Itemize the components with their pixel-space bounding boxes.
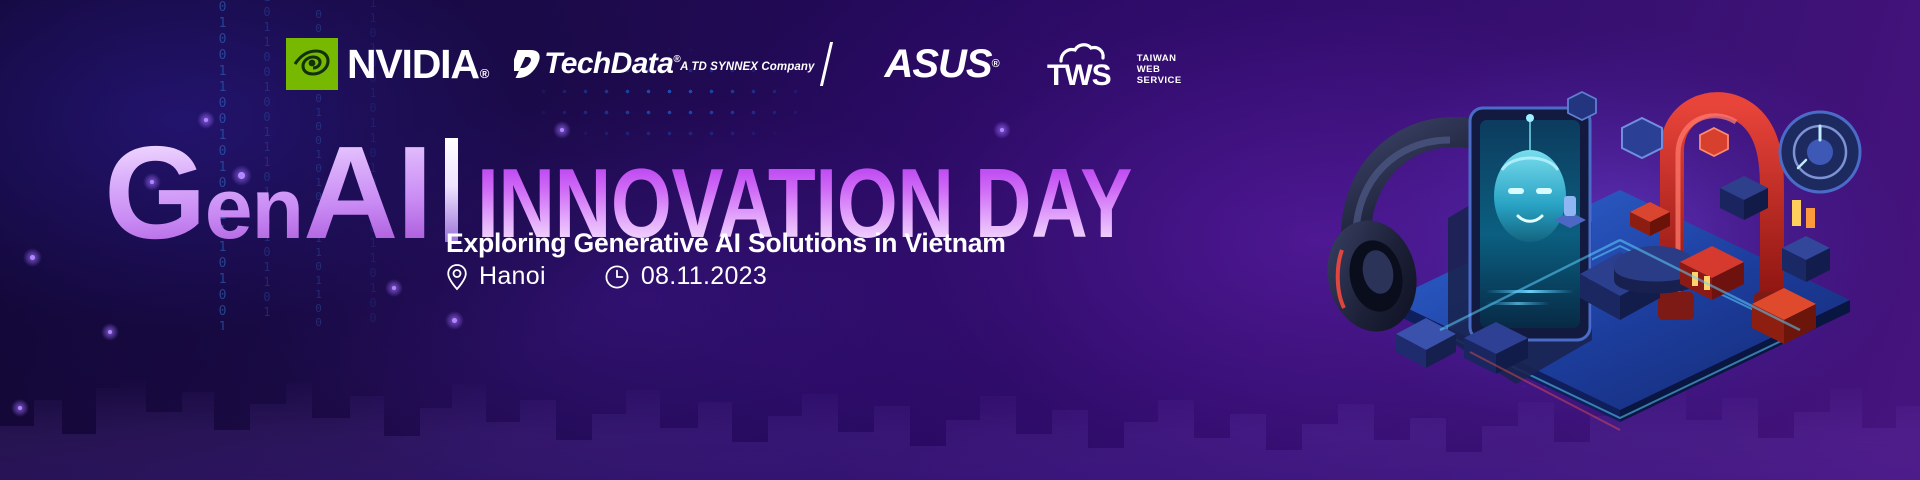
- logo-asus: ASUS®: [884, 44, 998, 84]
- glow-particle: [30, 255, 35, 260]
- tech-data-tagline: A TD SYNNEX Company: [680, 61, 814, 73]
- glow-particle: [1000, 128, 1004, 132]
- event-banner: 01001100101001110100101 1011001001110100…: [0, 0, 1920, 480]
- asus-wordmark: ASUS: [884, 44, 991, 84]
- logo-tws: TWS TAIWAN WEB SERVICE: [1045, 39, 1182, 89]
- headline-divider: [445, 138, 458, 242]
- tech-data-wordmark: TechData®: [544, 49, 680, 79]
- tech-data-slash-accent: [820, 42, 833, 86]
- nvidia-eye-icon: [286, 38, 338, 90]
- partner-logo-row: NVIDIA® TechData® A TD SYNNEX Company AS…: [286, 36, 1182, 92]
- tech-data-d-icon: [514, 47, 544, 81]
- nvidia-wordmark: NVIDIA®: [347, 44, 488, 85]
- ai-tech-illustration: [1320, 0, 1920, 480]
- event-date: 08.11.2023: [604, 262, 767, 291]
- dial-module: [1780, 112, 1860, 192]
- subtitle: Exploring Generative AI Solutions in Vie…: [446, 228, 1006, 259]
- logo-nvidia: NVIDIA®: [286, 38, 488, 90]
- glow-particle: [560, 128, 564, 132]
- glow-particle: [392, 286, 396, 290]
- logo-tech-data: TechData® A TD SYNNEX Company: [514, 47, 828, 81]
- map-pin-icon: [446, 263, 468, 291]
- clock-icon: [604, 264, 630, 290]
- date-label: 08.11.2023: [641, 262, 767, 291]
- event-location: Hanoi: [446, 262, 546, 291]
- event-meta-row: Hanoi 08.11.2023: [446, 262, 767, 291]
- location-label: Hanoi: [479, 262, 546, 291]
- tws-tagline: TAIWAN WEB SERVICE: [1137, 53, 1182, 86]
- glow-particle: [452, 318, 457, 323]
- glow-particle: [108, 330, 112, 334]
- glow-particle: [18, 406, 22, 410]
- genai-brand-text: GenAI: [104, 138, 431, 249]
- svg-text:TWS: TWS: [1047, 59, 1111, 89]
